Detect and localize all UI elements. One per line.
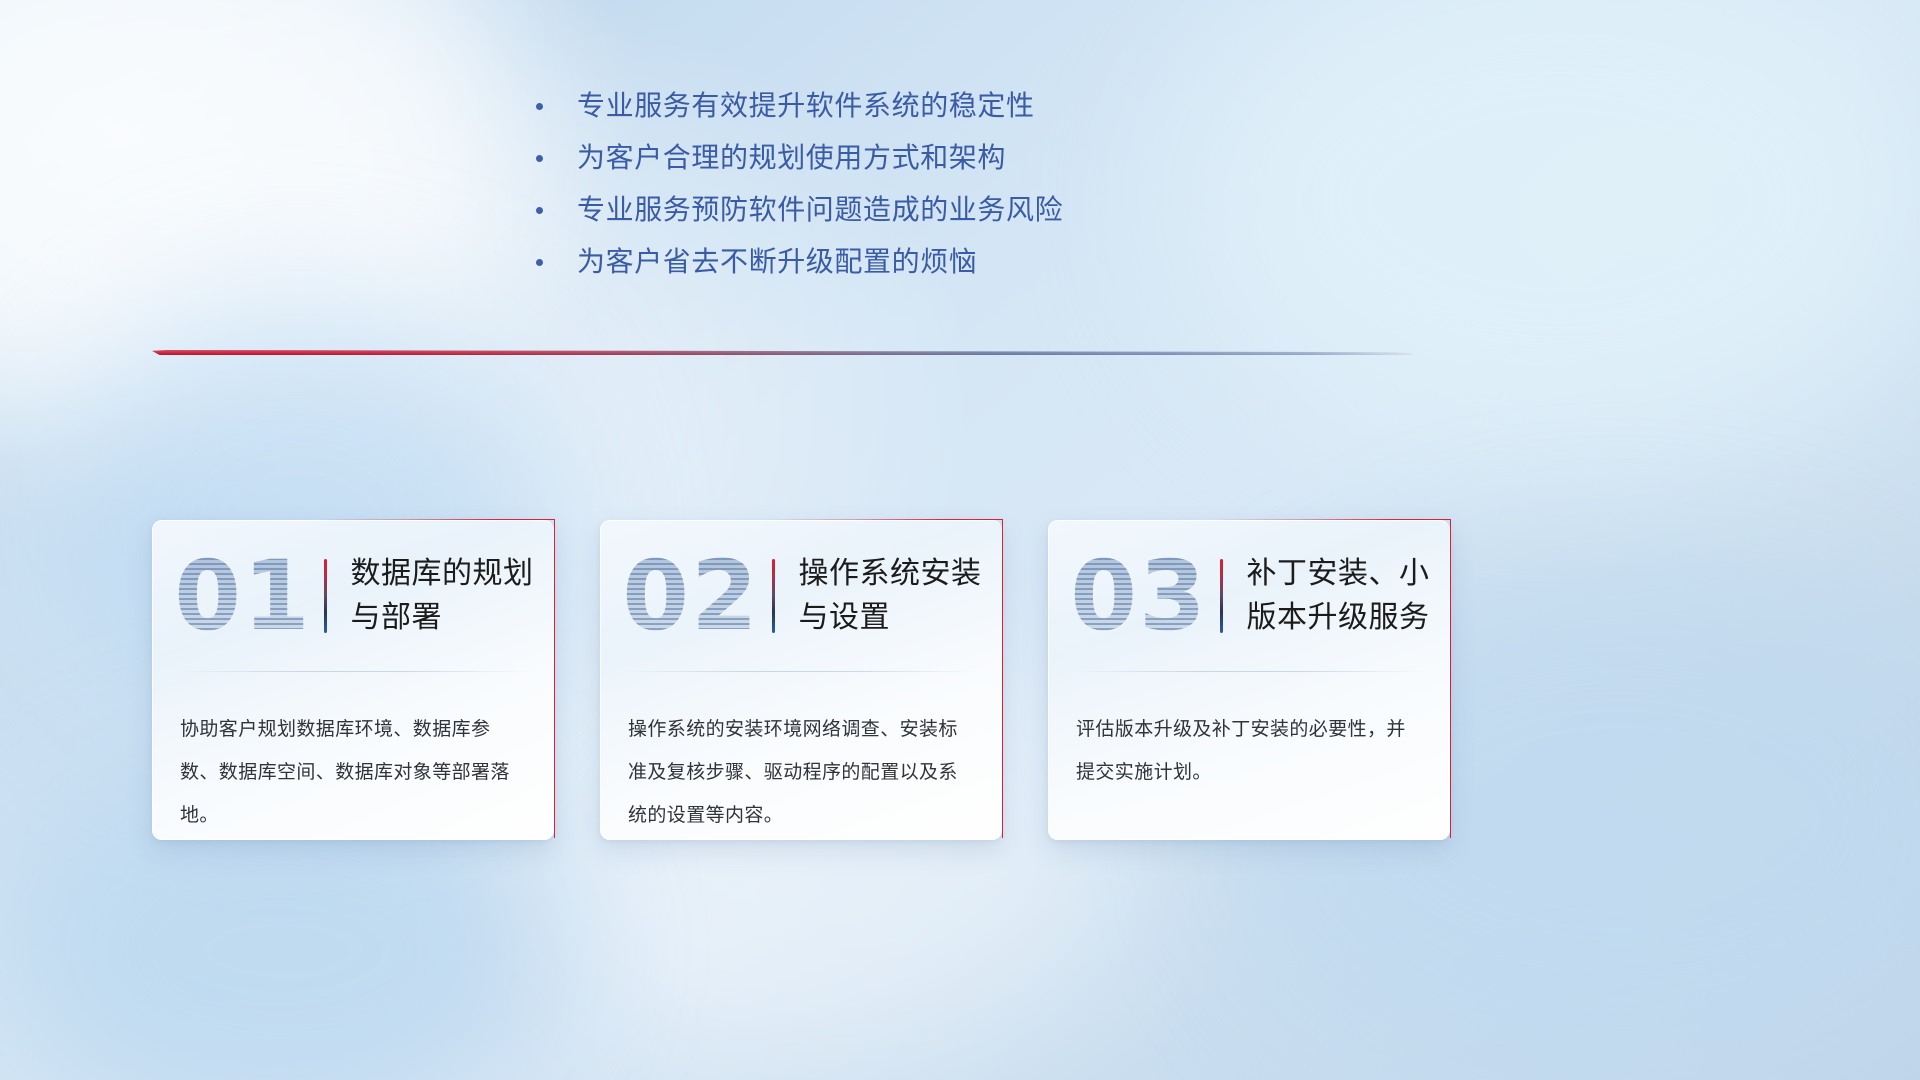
service-card-01[interactable]: 01 数据库的规划与部署 协助客户规划数据库环境、数据库参数、数据库空间、数据库… bbox=[152, 520, 554, 840]
card-header-rule bbox=[772, 559, 775, 633]
card-title: 补丁安装、小版本升级服务 bbox=[1247, 552, 1451, 640]
list-item: 为客户合理的规划使用方式和架构 bbox=[536, 138, 1436, 190]
card-body: 协助客户规划数据库环境、数据库参数、数据库空间、数据库对象等部署落地。 bbox=[152, 672, 554, 837]
card-title: 数据库的规划与部署 bbox=[351, 552, 555, 640]
card-description: 协助客户规划数据库环境、数据库参数、数据库空间、数据库对象等部署落地。 bbox=[180, 708, 526, 837]
bullet-dot-icon bbox=[536, 259, 543, 266]
service-card-03[interactable]: 03 补丁安装、小版本升级服务 评估版本升级及补丁安装的必要性，并提交实施计划。 bbox=[1048, 520, 1450, 840]
card-number-ghost: 03 bbox=[1062, 548, 1216, 644]
bullet-dot-icon bbox=[536, 103, 543, 110]
card-description: 操作系统的安装环境网络调查、安装标准及复核步骤、驱动程序的配置以及系统的设置等内… bbox=[628, 708, 974, 837]
bullet-text: 专业服务有效提升软件系统的稳定性 bbox=[577, 86, 1035, 126]
list-item: 专业服务预防软件问题造成的业务风险 bbox=[536, 190, 1436, 242]
card-header: 02 操作系统安装与设置 bbox=[600, 520, 1002, 672]
section-divider bbox=[152, 346, 1412, 360]
list-item: 专业服务有效提升软件系统的稳定性 bbox=[536, 86, 1436, 138]
service-card-list: 01 数据库的规划与部署 协助客户规划数据库环境、数据库参数、数据库空间、数据库… bbox=[152, 520, 1452, 840]
card-header: 03 补丁安装、小版本升级服务 bbox=[1048, 520, 1450, 672]
card-body: 评估版本升级及补丁安装的必要性，并提交实施计划。 bbox=[1048, 672, 1450, 794]
card-title: 操作系统安装与设置 bbox=[799, 552, 1003, 640]
section-divider-line bbox=[152, 350, 1412, 355]
card-header-rule bbox=[324, 559, 327, 633]
card-body: 操作系统的安装环境网络调查、安装标准及复核步骤、驱动程序的配置以及系统的设置等内… bbox=[600, 672, 1002, 837]
service-card-02[interactable]: 02 操作系统安装与设置 操作系统的安装环境网络调查、安装标准及复核步骤、驱动程… bbox=[600, 520, 1002, 840]
card-header: 01 数据库的规划与部署 bbox=[152, 520, 554, 672]
card-header-rule bbox=[1220, 559, 1223, 633]
card-number-ghost: 01 bbox=[166, 548, 320, 644]
benefits-bullet-list: 专业服务有效提升软件系统的稳定性 为客户合理的规划使用方式和架构 专业服务预防软… bbox=[536, 86, 1436, 294]
bullet-dot-icon bbox=[536, 207, 543, 214]
bullet-dot-icon bbox=[536, 155, 543, 162]
background-glow-1 bbox=[0, 0, 520, 440]
bullet-text: 专业服务预防软件问题造成的业务风险 bbox=[577, 190, 1063, 230]
bullet-text: 为客户省去不断升级配置的烦恼 bbox=[577, 242, 977, 282]
card-number-ghost: 02 bbox=[614, 548, 768, 644]
slide-root: 专业服务有效提升软件系统的稳定性 为客户合理的规划使用方式和架构 专业服务预防软… bbox=[0, 0, 1920, 1080]
card-description: 评估版本升级及补丁安装的必要性，并提交实施计划。 bbox=[1076, 708, 1422, 794]
bullet-text: 为客户合理的规划使用方式和架构 bbox=[577, 138, 1006, 178]
list-item: 为客户省去不断升级配置的烦恼 bbox=[536, 242, 1436, 294]
